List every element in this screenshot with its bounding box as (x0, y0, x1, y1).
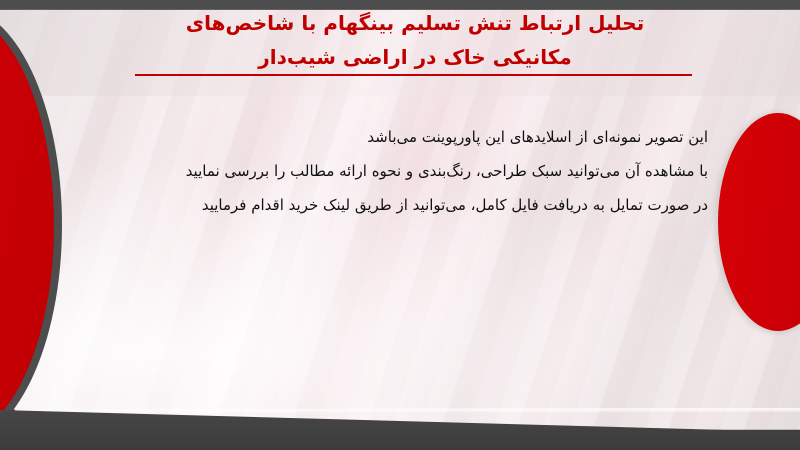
title-underline-rule (135, 74, 692, 76)
title-line-2: مکانیکی خاک در اراضی شیب‌دار (120, 40, 710, 74)
body-line-1: این تصویر نمونه‌ای از اسلایدهای این پاور… (88, 120, 708, 154)
body-line-3: در صورت تمایل به دریافت فایل کامل، می‌تو… (88, 188, 708, 222)
body-line-2: با مشاهده آن می‌توانید سبک طراحی، رنگ‌بن… (88, 154, 708, 188)
presentation-slide: تحلیل ارتباط تنش تسلیم بینگهام با شاخص‌ه… (0, 0, 800, 450)
slide-body-text: این تصویر نمونه‌ای از اسلایدهای این پاور… (88, 120, 708, 222)
slide-title: تحلیل ارتباط تنش تسلیم بینگهام با شاخص‌ه… (120, 6, 710, 74)
title-line-1: تحلیل ارتباط تنش تسلیم بینگهام با شاخص‌ه… (120, 6, 710, 40)
